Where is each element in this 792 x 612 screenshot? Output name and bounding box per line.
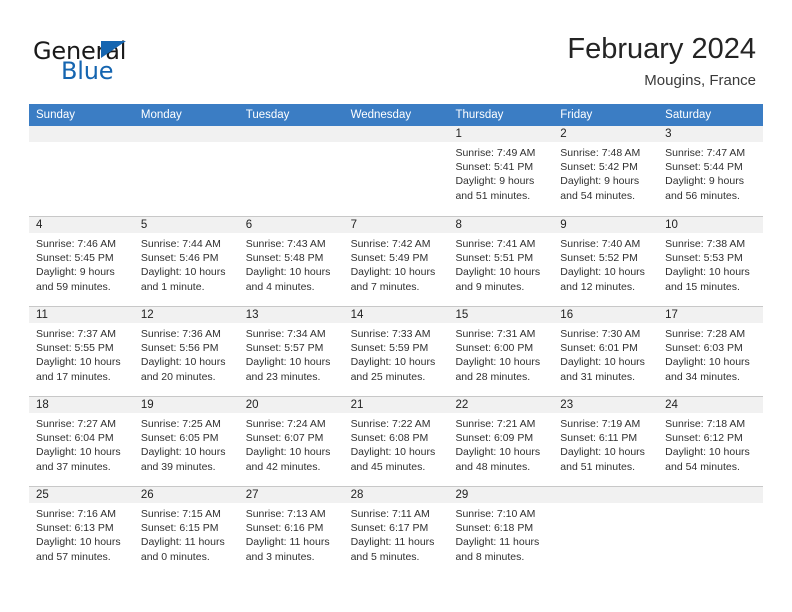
logo-text-blue: Blue [61, 58, 113, 84]
daylight-text: Daylight: 10 hours [665, 265, 758, 279]
calendar-day-cell[interactable]: 6Sunrise: 7:43 AMSunset: 5:48 PMDaylight… [239, 217, 344, 306]
sunrise-text: Sunrise: 7:11 AM [351, 507, 444, 521]
day-number: 17 [658, 307, 763, 323]
daylight-text: Daylight: 10 hours [560, 265, 653, 279]
general-blue-logo[interactable]: General Blue [33, 38, 203, 84]
day-details: Sunrise: 7:15 AMSunset: 6:15 PMDaylight:… [134, 503, 239, 564]
calendar-day-cell-empty [344, 126, 449, 216]
sunrise-text: Sunrise: 7:34 AM [246, 327, 339, 341]
daylight-text-cont: and 20 minutes. [141, 370, 234, 384]
day-number: 11 [29, 307, 134, 323]
daylight-text-cont: and 15 minutes. [665, 280, 758, 294]
daylight-text-cont: and 42 minutes. [246, 460, 339, 474]
day-details: Sunrise: 7:30 AMSunset: 6:01 PMDaylight:… [553, 323, 658, 384]
daylight-text-cont: and 23 minutes. [246, 370, 339, 384]
day-number [29, 126, 134, 142]
title-block: February 2024 Mougins, France [567, 32, 756, 90]
sunrise-text: Sunrise: 7:15 AM [141, 507, 234, 521]
day-details: Sunrise: 7:42 AMSunset: 5:49 PMDaylight:… [344, 233, 449, 294]
sunrise-text: Sunrise: 7:44 AM [141, 237, 234, 251]
daylight-text-cont: and 17 minutes. [36, 370, 129, 384]
calendar-day-cell[interactable]: 3Sunrise: 7:47 AMSunset: 5:44 PMDaylight… [658, 126, 763, 216]
sunrise-text: Sunrise: 7:30 AM [560, 327, 653, 341]
daylight-text-cont: and 54 minutes. [560, 189, 653, 203]
sunrise-text: Sunrise: 7:22 AM [351, 417, 444, 431]
daylight-text-cont: and 4 minutes. [246, 280, 339, 294]
calendar-day-cell[interactable]: 4Sunrise: 7:46 AMSunset: 5:45 PMDaylight… [29, 217, 134, 306]
sunset-text: Sunset: 6:01 PM [560, 341, 653, 355]
calendar-day-cell[interactable]: 22Sunrise: 7:21 AMSunset: 6:09 PMDayligh… [448, 397, 553, 486]
daylight-text-cont: and 34 minutes. [665, 370, 758, 384]
day-number [344, 126, 449, 142]
location-subtitle: Mougins, France [567, 72, 756, 90]
daylight-text: Daylight: 10 hours [246, 265, 339, 279]
sunset-text: Sunset: 6:18 PM [455, 521, 548, 535]
sunrise-text: Sunrise: 7:49 AM [455, 146, 548, 160]
day-details: Sunrise: 7:11 AMSunset: 6:17 PMDaylight:… [344, 503, 449, 564]
day-number: 4 [29, 217, 134, 233]
sunrise-text: Sunrise: 7:41 AM [455, 237, 548, 251]
sunrise-text: Sunrise: 7:13 AM [246, 507, 339, 521]
sunset-text: Sunset: 5:41 PM [455, 160, 548, 174]
daylight-text-cont: and 57 minutes. [36, 550, 129, 564]
calendar-day-cell-empty [29, 126, 134, 216]
sunset-text: Sunset: 6:16 PM [246, 521, 339, 535]
daylight-text: Daylight: 10 hours [141, 355, 234, 369]
daylight-text-cont: and 1 minute. [141, 280, 234, 294]
day-details [658, 503, 763, 507]
day-number: 27 [239, 487, 344, 503]
day-details: Sunrise: 7:36 AMSunset: 5:56 PMDaylight:… [134, 323, 239, 384]
day-details: Sunrise: 7:33 AMSunset: 5:59 PMDaylight:… [344, 323, 449, 384]
calendar-week-row: 18Sunrise: 7:27 AMSunset: 6:04 PMDayligh… [29, 396, 763, 486]
day-details [553, 503, 658, 507]
day-number: 19 [134, 397, 239, 413]
triangle-icon [101, 41, 126, 58]
day-details: Sunrise: 7:41 AMSunset: 5:51 PMDaylight:… [448, 233, 553, 294]
day-details [134, 142, 239, 146]
calendar-day-cell[interactable]: 13Sunrise: 7:34 AMSunset: 5:57 PMDayligh… [239, 307, 344, 396]
calendar-day-cell[interactable]: 19Sunrise: 7:25 AMSunset: 6:05 PMDayligh… [134, 397, 239, 486]
calendar-day-cell[interactable]: 16Sunrise: 7:30 AMSunset: 6:01 PMDayligh… [553, 307, 658, 396]
daylight-text-cont: and 37 minutes. [36, 460, 129, 474]
daylight-text: Daylight: 10 hours [560, 355, 653, 369]
day-details: Sunrise: 7:47 AMSunset: 5:44 PMDaylight:… [658, 142, 763, 203]
day-number: 20 [239, 397, 344, 413]
day-details: Sunrise: 7:10 AMSunset: 6:18 PMDaylight:… [448, 503, 553, 564]
calendar-day-cell[interactable]: 12Sunrise: 7:36 AMSunset: 5:56 PMDayligh… [134, 307, 239, 396]
day-number [239, 126, 344, 142]
day-number: 13 [239, 307, 344, 323]
sunset-text: Sunset: 6:15 PM [141, 521, 234, 535]
sunrise-text: Sunrise: 7:19 AM [560, 417, 653, 431]
calendar-day-cell-empty [553, 487, 658, 576]
sunset-text: Sunset: 6:17 PM [351, 521, 444, 535]
weekday-header-sunday: Sunday [29, 104, 134, 126]
day-details: Sunrise: 7:28 AMSunset: 6:03 PMDaylight:… [658, 323, 763, 384]
day-details: Sunrise: 7:24 AMSunset: 6:07 PMDaylight:… [239, 413, 344, 474]
daylight-text: Daylight: 11 hours [455, 535, 548, 549]
day-details: Sunrise: 7:19 AMSunset: 6:11 PMDaylight:… [553, 413, 658, 474]
sunset-text: Sunset: 6:11 PM [560, 431, 653, 445]
weekday-header-wednesday: Wednesday [344, 104, 449, 126]
sunset-text: Sunset: 5:57 PM [246, 341, 339, 355]
sunset-text: Sunset: 6:07 PM [246, 431, 339, 445]
sunset-text: Sunset: 6:04 PM [36, 431, 129, 445]
daylight-text-cont: and 45 minutes. [351, 460, 444, 474]
daylight-text: Daylight: 10 hours [455, 445, 548, 459]
sunset-text: Sunset: 5:51 PM [455, 251, 548, 265]
daylight-text-cont: and 0 minutes. [141, 550, 234, 564]
daylight-text: Daylight: 11 hours [246, 535, 339, 549]
day-number: 9 [553, 217, 658, 233]
day-details [239, 142, 344, 146]
day-details: Sunrise: 7:46 AMSunset: 5:45 PMDaylight:… [29, 233, 134, 294]
calendar-day-cell[interactable]: 20Sunrise: 7:24 AMSunset: 6:07 PMDayligh… [239, 397, 344, 486]
sunset-text: Sunset: 5:44 PM [665, 160, 758, 174]
day-number: 14 [344, 307, 449, 323]
daylight-text: Daylight: 9 hours [455, 174, 548, 188]
day-details: Sunrise: 7:21 AMSunset: 6:09 PMDaylight:… [448, 413, 553, 474]
sunrise-text: Sunrise: 7:10 AM [455, 507, 548, 521]
day-number: 15 [448, 307, 553, 323]
weekday-header-saturday: Saturday [658, 104, 763, 126]
sunset-text: Sunset: 5:45 PM [36, 251, 129, 265]
sunset-text: Sunset: 6:05 PM [141, 431, 234, 445]
daylight-text: Daylight: 11 hours [141, 535, 234, 549]
calendar-week-row: 25Sunrise: 7:16 AMSunset: 6:13 PMDayligh… [29, 486, 763, 576]
day-number: 1 [448, 126, 553, 142]
day-number: 21 [344, 397, 449, 413]
day-number: 18 [29, 397, 134, 413]
sunrise-text: Sunrise: 7:18 AM [665, 417, 758, 431]
calendar-day-cell[interactable]: 10Sunrise: 7:38 AMSunset: 5:53 PMDayligh… [658, 217, 763, 306]
sunrise-text: Sunrise: 7:47 AM [665, 146, 758, 160]
day-details: Sunrise: 7:25 AMSunset: 6:05 PMDaylight:… [134, 413, 239, 474]
calendar-day-cell[interactable]: 14Sunrise: 7:33 AMSunset: 5:59 PMDayligh… [344, 307, 449, 396]
sunset-text: Sunset: 5:55 PM [36, 341, 129, 355]
sunset-text: Sunset: 5:46 PM [141, 251, 234, 265]
day-number: 23 [553, 397, 658, 413]
sunset-text: Sunset: 6:13 PM [36, 521, 129, 535]
daylight-text: Daylight: 10 hours [351, 355, 444, 369]
sunrise-text: Sunrise: 7:38 AM [665, 237, 758, 251]
calendar-day-cell[interactable]: 18Sunrise: 7:27 AMSunset: 6:04 PMDayligh… [29, 397, 134, 486]
daylight-text-cont: and 56 minutes. [665, 189, 758, 203]
weekday-header-monday: Monday [134, 104, 239, 126]
calendar-weeks: 1Sunrise: 7:49 AMSunset: 5:41 PMDaylight… [29, 126, 763, 576]
calendar-page: General Blue February 2024 Mougins, Fran… [0, 0, 792, 612]
day-number: 6 [239, 217, 344, 233]
sunset-text: Sunset: 5:48 PM [246, 251, 339, 265]
day-details: Sunrise: 7:22 AMSunset: 6:08 PMDaylight:… [344, 413, 449, 474]
sunrise-text: Sunrise: 7:40 AM [560, 237, 653, 251]
day-details: Sunrise: 7:18 AMSunset: 6:12 PMDaylight:… [658, 413, 763, 474]
sunset-text: Sunset: 6:09 PM [455, 431, 548, 445]
page-header: General Blue February 2024 Mougins, Fran… [0, 0, 792, 104]
calendar-day-cell[interactable]: 26Sunrise: 7:15 AMSunset: 6:15 PMDayligh… [134, 487, 239, 576]
day-details: Sunrise: 7:34 AMSunset: 5:57 PMDaylight:… [239, 323, 344, 384]
sunset-text: Sunset: 6:00 PM [455, 341, 548, 355]
calendar-day-cell[interactable]: 25Sunrise: 7:16 AMSunset: 6:13 PMDayligh… [29, 487, 134, 576]
sunset-text: Sunset: 5:52 PM [560, 251, 653, 265]
daylight-text: Daylight: 10 hours [246, 355, 339, 369]
day-number: 28 [344, 487, 449, 503]
calendar-day-cell[interactable]: 8Sunrise: 7:41 AMSunset: 5:51 PMDaylight… [448, 217, 553, 306]
daylight-text-cont: and 25 minutes. [351, 370, 444, 384]
day-number: 29 [448, 487, 553, 503]
day-number: 3 [658, 126, 763, 142]
daylight-text: Daylight: 10 hours [560, 445, 653, 459]
sunrise-text: Sunrise: 7:43 AM [246, 237, 339, 251]
daylight-text: Daylight: 10 hours [351, 265, 444, 279]
daylight-text: Daylight: 10 hours [665, 445, 758, 459]
calendar-week-row: 1Sunrise: 7:49 AMSunset: 5:41 PMDaylight… [29, 126, 763, 216]
calendar-day-cell-empty [658, 487, 763, 576]
sunrise-text: Sunrise: 7:33 AM [351, 327, 444, 341]
sunrise-text: Sunrise: 7:31 AM [455, 327, 548, 341]
day-details: Sunrise: 7:16 AMSunset: 6:13 PMDaylight:… [29, 503, 134, 564]
day-number [553, 487, 658, 503]
daylight-text: Daylight: 10 hours [455, 355, 548, 369]
daylight-text: Daylight: 9 hours [560, 174, 653, 188]
weekday-header-row: Sunday Monday Tuesday Wednesday Thursday… [29, 104, 763, 126]
day-details: Sunrise: 7:37 AMSunset: 5:55 PMDaylight:… [29, 323, 134, 384]
daylight-text-cont: and 31 minutes. [560, 370, 653, 384]
daylight-text-cont: and 54 minutes. [665, 460, 758, 474]
weekday-header-friday: Friday [553, 104, 658, 126]
daylight-text: Daylight: 10 hours [246, 445, 339, 459]
sunrise-text: Sunrise: 7:48 AM [560, 146, 653, 160]
day-number: 7 [344, 217, 449, 233]
daylight-text: Daylight: 10 hours [455, 265, 548, 279]
day-details: Sunrise: 7:44 AMSunset: 5:46 PMDaylight:… [134, 233, 239, 294]
day-number [658, 487, 763, 503]
sunrise-text: Sunrise: 7:24 AM [246, 417, 339, 431]
day-number: 5 [134, 217, 239, 233]
day-details [344, 142, 449, 146]
sunset-text: Sunset: 5:53 PM [665, 251, 758, 265]
sunset-text: Sunset: 5:42 PM [560, 160, 653, 174]
sunrise-text: Sunrise: 7:27 AM [36, 417, 129, 431]
day-number: 22 [448, 397, 553, 413]
daylight-text-cont: and 51 minutes. [455, 189, 548, 203]
sunrise-text: Sunrise: 7:36 AM [141, 327, 234, 341]
daylight-text: Daylight: 10 hours [141, 265, 234, 279]
page-title: February 2024 [567, 32, 756, 66]
day-details: Sunrise: 7:43 AMSunset: 5:48 PMDaylight:… [239, 233, 344, 294]
calendar-grid: Sunday Monday Tuesday Wednesday Thursday… [29, 104, 763, 576]
day-details: Sunrise: 7:48 AMSunset: 5:42 PMDaylight:… [553, 142, 658, 203]
calendar-day-cell[interactable]: 17Sunrise: 7:28 AMSunset: 6:03 PMDayligh… [658, 307, 763, 396]
sunrise-text: Sunrise: 7:25 AM [141, 417, 234, 431]
daylight-text: Daylight: 9 hours [36, 265, 129, 279]
calendar-day-cell[interactable]: 5Sunrise: 7:44 AMSunset: 5:46 PMDaylight… [134, 217, 239, 306]
daylight-text-cont: and 12 minutes. [560, 280, 653, 294]
daylight-text-cont: and 9 minutes. [455, 280, 548, 294]
calendar-day-cell[interactable]: 2Sunrise: 7:48 AMSunset: 5:42 PMDaylight… [553, 126, 658, 216]
day-number: 8 [448, 217, 553, 233]
daylight-text-cont: and 5 minutes. [351, 550, 444, 564]
sunrise-text: Sunrise: 7:21 AM [455, 417, 548, 431]
day-number: 25 [29, 487, 134, 503]
daylight-text-cont: and 39 minutes. [141, 460, 234, 474]
weekday-header-thursday: Thursday [448, 104, 553, 126]
daylight-text-cont: and 28 minutes. [455, 370, 548, 384]
sunrise-text: Sunrise: 7:16 AM [36, 507, 129, 521]
daylight-text-cont: and 51 minutes. [560, 460, 653, 474]
sunset-text: Sunset: 5:59 PM [351, 341, 444, 355]
calendar-day-cell[interactable]: 29Sunrise: 7:10 AMSunset: 6:18 PMDayligh… [448, 487, 553, 576]
sunrise-text: Sunrise: 7:37 AM [36, 327, 129, 341]
day-number: 10 [658, 217, 763, 233]
calendar-day-cell[interactable]: 9Sunrise: 7:40 AMSunset: 5:52 PMDaylight… [553, 217, 658, 306]
sunrise-text: Sunrise: 7:46 AM [36, 237, 129, 251]
daylight-text: Daylight: 10 hours [351, 445, 444, 459]
day-number: 26 [134, 487, 239, 503]
sunset-text: Sunset: 6:08 PM [351, 431, 444, 445]
daylight-text: Daylight: 9 hours [665, 174, 758, 188]
day-number: 16 [553, 307, 658, 323]
calendar-day-cell[interactable]: 7Sunrise: 7:42 AMSunset: 5:49 PMDaylight… [344, 217, 449, 306]
daylight-text: Daylight: 10 hours [665, 355, 758, 369]
day-details: Sunrise: 7:27 AMSunset: 6:04 PMDaylight:… [29, 413, 134, 474]
daylight-text: Daylight: 11 hours [351, 535, 444, 549]
day-details: Sunrise: 7:38 AMSunset: 5:53 PMDaylight:… [658, 233, 763, 294]
calendar-day-cell[interactable]: 11Sunrise: 7:37 AMSunset: 5:55 PMDayligh… [29, 307, 134, 396]
day-number: 2 [553, 126, 658, 142]
calendar-day-cell[interactable]: 15Sunrise: 7:31 AMSunset: 6:00 PMDayligh… [448, 307, 553, 396]
weekday-header-tuesday: Tuesday [239, 104, 344, 126]
calendar-day-cell[interactable]: 23Sunrise: 7:19 AMSunset: 6:11 PMDayligh… [553, 397, 658, 486]
day-number: 24 [658, 397, 763, 413]
daylight-text: Daylight: 10 hours [141, 445, 234, 459]
day-number [134, 126, 239, 142]
day-number: 12 [134, 307, 239, 323]
sunrise-text: Sunrise: 7:28 AM [665, 327, 758, 341]
calendar-day-cell[interactable]: 27Sunrise: 7:13 AMSunset: 6:16 PMDayligh… [239, 487, 344, 576]
sunset-text: Sunset: 6:03 PM [665, 341, 758, 355]
calendar-day-cell-empty [239, 126, 344, 216]
daylight-text-cont: and 8 minutes. [455, 550, 548, 564]
day-details: Sunrise: 7:13 AMSunset: 6:16 PMDaylight:… [239, 503, 344, 564]
daylight-text: Daylight: 10 hours [36, 355, 129, 369]
day-details: Sunrise: 7:31 AMSunset: 6:00 PMDaylight:… [448, 323, 553, 384]
calendar-day-cell[interactable]: 21Sunrise: 7:22 AMSunset: 6:08 PMDayligh… [344, 397, 449, 486]
sunset-text: Sunset: 5:49 PM [351, 251, 444, 265]
calendar-week-row: 11Sunrise: 7:37 AMSunset: 5:55 PMDayligh… [29, 306, 763, 396]
day-details: Sunrise: 7:49 AMSunset: 5:41 PMDaylight:… [448, 142, 553, 203]
daylight-text-cont: and 59 minutes. [36, 280, 129, 294]
calendar-day-cell[interactable]: 24Sunrise: 7:18 AMSunset: 6:12 PMDayligh… [658, 397, 763, 486]
sunset-text: Sunset: 6:12 PM [665, 431, 758, 445]
daylight-text: Daylight: 10 hours [36, 445, 129, 459]
daylight-text-cont: and 7 minutes. [351, 280, 444, 294]
calendar-day-cell[interactable]: 28Sunrise: 7:11 AMSunset: 6:17 PMDayligh… [344, 487, 449, 576]
calendar-day-cell-empty [134, 126, 239, 216]
calendar-week-row: 4Sunrise: 7:46 AMSunset: 5:45 PMDaylight… [29, 216, 763, 306]
day-details [29, 142, 134, 146]
daylight-text-cont: and 3 minutes. [246, 550, 339, 564]
sunset-text: Sunset: 5:56 PM [141, 341, 234, 355]
day-details: Sunrise: 7:40 AMSunset: 5:52 PMDaylight:… [553, 233, 658, 294]
daylight-text: Daylight: 10 hours [36, 535, 129, 549]
daylight-text-cont: and 48 minutes. [455, 460, 548, 474]
sunrise-text: Sunrise: 7:42 AM [351, 237, 444, 251]
calendar-day-cell[interactable]: 1Sunrise: 7:49 AMSunset: 5:41 PMDaylight… [448, 126, 553, 216]
